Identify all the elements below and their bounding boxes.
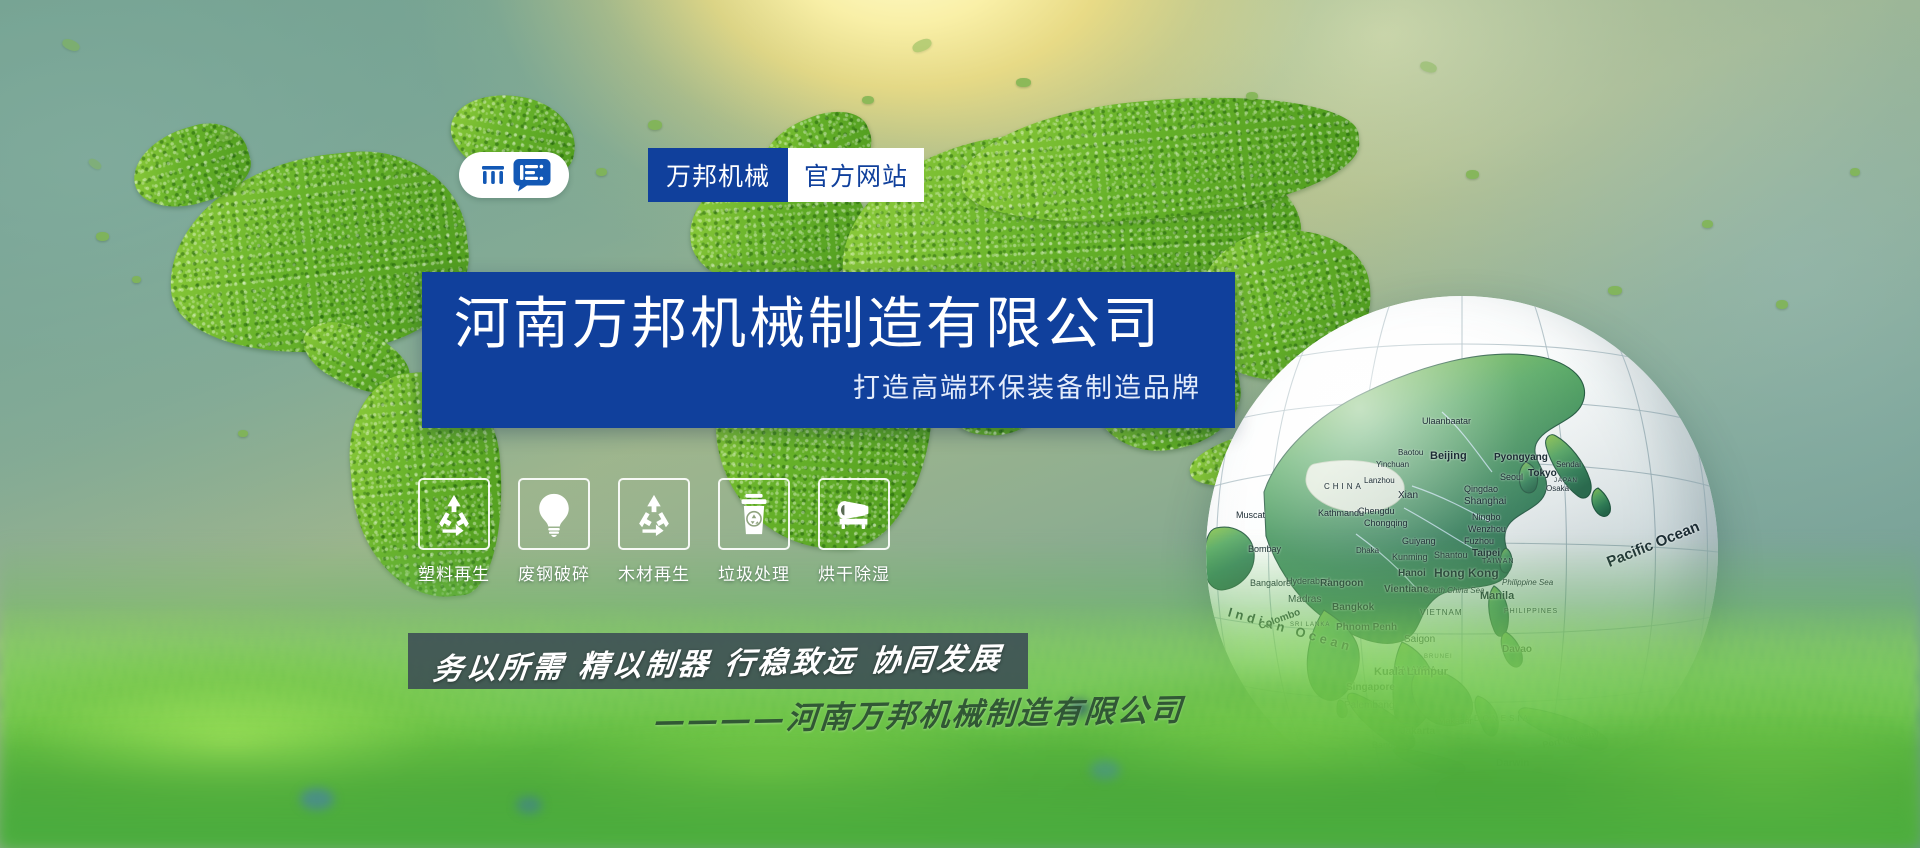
slogan-text: 务以所需 精以制器 行稳致远 协同发展: [431, 634, 1005, 689]
island-speck: [238, 430, 248, 437]
service-icon-box: [818, 478, 890, 550]
logo-w-icon: [478, 160, 508, 190]
tab-official-site[interactable]: 官方网站: [788, 148, 924, 202]
island-speck: [1466, 170, 1479, 179]
island-speck: [1776, 300, 1788, 309]
bokeh-dot: [300, 788, 334, 810]
service-item-drying-dehumidifying[interactable]: 烘干除湿: [818, 478, 890, 585]
recycle-icon: [431, 491, 477, 537]
service-item-wood-recycling[interactable]: 木材再生: [618, 478, 690, 585]
logo-b-icon: [513, 158, 551, 192]
dryer-icon: [831, 491, 877, 537]
island-speck: [648, 120, 662, 130]
service-label: 烘干除湿: [818, 560, 890, 585]
page-title: 河南万邦机械制造有限公司: [422, 295, 1235, 355]
recycle-icon: [631, 491, 677, 537]
island-speck: [596, 168, 607, 176]
page-subtitle: 打造高端环保装备制造品牌: [422, 366, 1235, 405]
island-speck: [1702, 220, 1713, 228]
lightbulb-icon: [531, 491, 577, 537]
slogan-banner: 务以所需 精以制器 行稳致远 协同发展: [408, 633, 1028, 689]
wb-logo[interactable]: [459, 152, 569, 198]
hero-title-panel: 河南万邦机械制造有限公司 打造高端环保装备制造品牌: [422, 272, 1235, 428]
service-item-waste-treatment[interactable]: 垃圾处理: [718, 478, 790, 585]
island-speck: [1850, 168, 1860, 176]
service-label: 木材再生: [618, 560, 690, 585]
tab-company-name[interactable]: 万邦机械: [648, 148, 788, 202]
hero-banner: Pacific Ocean Indian Ocean South China S…: [0, 0, 1920, 848]
landmass-siberia: [956, 83, 1365, 235]
island-speck: [132, 276, 141, 283]
bokeh-dot: [1090, 760, 1120, 780]
service-label: 废钢破碎: [518, 560, 590, 585]
service-icon-box: [518, 478, 590, 550]
service-icon-box: [418, 478, 490, 550]
service-item-plastic-recycling[interactable]: 塑料再生: [418, 478, 490, 585]
service-icon-box: [618, 478, 690, 550]
service-icon-row: 塑料再生 废钢破碎 木材再生: [418, 478, 890, 585]
bokeh-dot: [516, 796, 542, 814]
brand-tabs: 万邦机械 官方网站: [648, 148, 924, 202]
service-label: 垃圾处理: [718, 560, 790, 585]
service-label: 塑料再生: [418, 560, 490, 585]
island-speck: [862, 96, 874, 104]
island-speck: [1016, 78, 1031, 87]
trash-bin-icon: [731, 491, 777, 537]
service-icon-box: [718, 478, 790, 550]
island-speck: [1246, 92, 1258, 100]
service-item-scrap-steel-crushing[interactable]: 废钢破碎: [518, 478, 590, 585]
island-speck: [96, 232, 109, 241]
grass-depth-shadow: [0, 730, 1920, 848]
island-speck: [1608, 286, 1622, 295]
